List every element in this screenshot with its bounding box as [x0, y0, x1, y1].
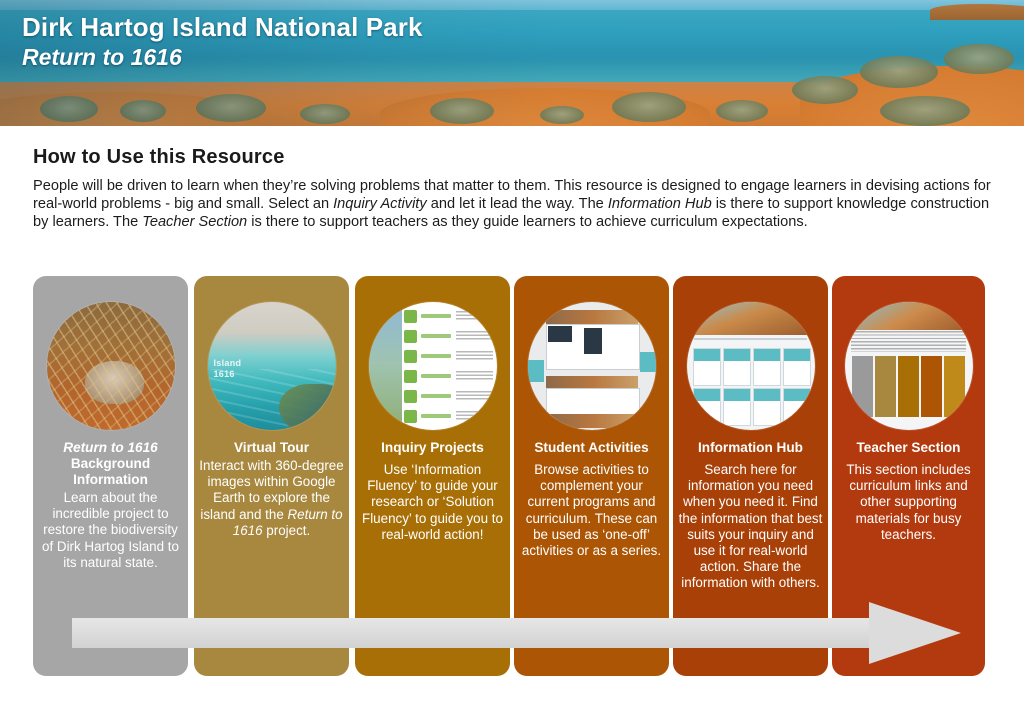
- card-body-teacher-section: This section includes curriculum links a…: [836, 462, 981, 543]
- hero-title-block: Dirk Hartog Island National Park Return …: [22, 12, 423, 71]
- hero-bush-8: [716, 100, 768, 122]
- aerial-turquoise-coast-photo: Island1616: [208, 302, 336, 430]
- page-subtitle: Return to 1616: [22, 43, 423, 71]
- hero-bush-7: [612, 92, 686, 122]
- card-inquiry-projects[interactable]: Inquiry Projects Use ‘Information Fluenc…: [355, 276, 510, 676]
- card-title-bold-5: Teacher Section: [856, 440, 960, 455]
- card-title-student-activities: Student Activities: [519, 440, 664, 456]
- hero-bush-10: [860, 56, 938, 88]
- intro-section: How to Use this Resource People will be …: [0, 126, 1024, 266]
- card-title-bold-0: Background Information: [71, 456, 150, 487]
- card-title-bold-2: Inquiry Projects: [381, 440, 484, 455]
- card-body-background-information: Learn about the incredible project to re…: [37, 490, 184, 571]
- information-sheets-screenshot: [687, 302, 815, 430]
- coast-photo-caption: Island1616: [214, 358, 242, 380]
- hero-banner: Dirk Hartog Island National Park Return …: [0, 0, 1024, 126]
- intro-run-6: is there to support teachers as they gui…: [247, 214, 808, 230]
- intro-run-3: Information Hub: [608, 196, 712, 212]
- intro-run-1: Inquiry Activity: [333, 196, 427, 212]
- teacher-section-screenshot: [845, 302, 973, 430]
- intro-paragraph: People will be driven to learn when they…: [33, 178, 995, 231]
- card-teacher-section[interactable]: Teacher Section This section includes cu…: [832, 276, 985, 676]
- hero-bush-12: [880, 96, 970, 126]
- page-title: Dirk Hartog Island National Park: [22, 12, 423, 42]
- intro-run-2: and let it lead the way. The: [427, 196, 608, 212]
- hero-bush-9: [792, 76, 858, 104]
- card-title-bold-4: Information Hub: [698, 440, 803, 455]
- card-title-italic-0: Return to 1616: [63, 440, 157, 455]
- card-background-information[interactable]: Return to 1616 Background Information Le…: [33, 276, 188, 676]
- card-title-information-hub: Information Hub: [678, 440, 823, 456]
- intro-run-5: Teacher Section: [142, 214, 247, 230]
- card-title-inquiry-projects: Inquiry Projects: [360, 440, 505, 456]
- card-body-student-activities: Browse activities to complement your cur…: [518, 462, 665, 559]
- card-virtual-tour[interactable]: Island1616 Virtual Tour Interact with 36…: [194, 276, 349, 676]
- card-body-italic-1: Return to 1616: [233, 507, 343, 538]
- student-worksheets-screenshot: [528, 302, 656, 430]
- card-title-bold-3: Student Activities: [534, 440, 648, 455]
- section-heading: How to Use this Resource: [33, 146, 285, 169]
- solution-fluency-infographic: [369, 302, 497, 430]
- card-body-virtual-tour: Interact with 360-degree images within G…: [198, 458, 345, 539]
- card-title-background-information: Return to 1616 Background Information: [38, 440, 183, 488]
- card-title-bold-1: Virtual Tour: [234, 440, 309, 455]
- hero-headland: [930, 4, 1024, 20]
- card-title-teacher-section: Teacher Section: [837, 440, 980, 456]
- card-body-information-hub: Search here for information you need whe…: [677, 462, 824, 592]
- card-body-inquiry-projects: Use ‘Information Fluency’ to guide your …: [359, 462, 506, 543]
- card-information-hub[interactable]: Information Hub Search here for informat…: [673, 276, 828, 676]
- card-title-virtual-tour: Virtual Tour: [199, 440, 344, 456]
- navigation-card-row: Return to 1616 Background Information Le…: [0, 276, 1024, 676]
- hero-bush-11: [944, 44, 1014, 74]
- bilby-in-spinifex-photo: [47, 302, 175, 430]
- card-student-activities[interactable]: Student Activities Browse activities to …: [514, 276, 669, 676]
